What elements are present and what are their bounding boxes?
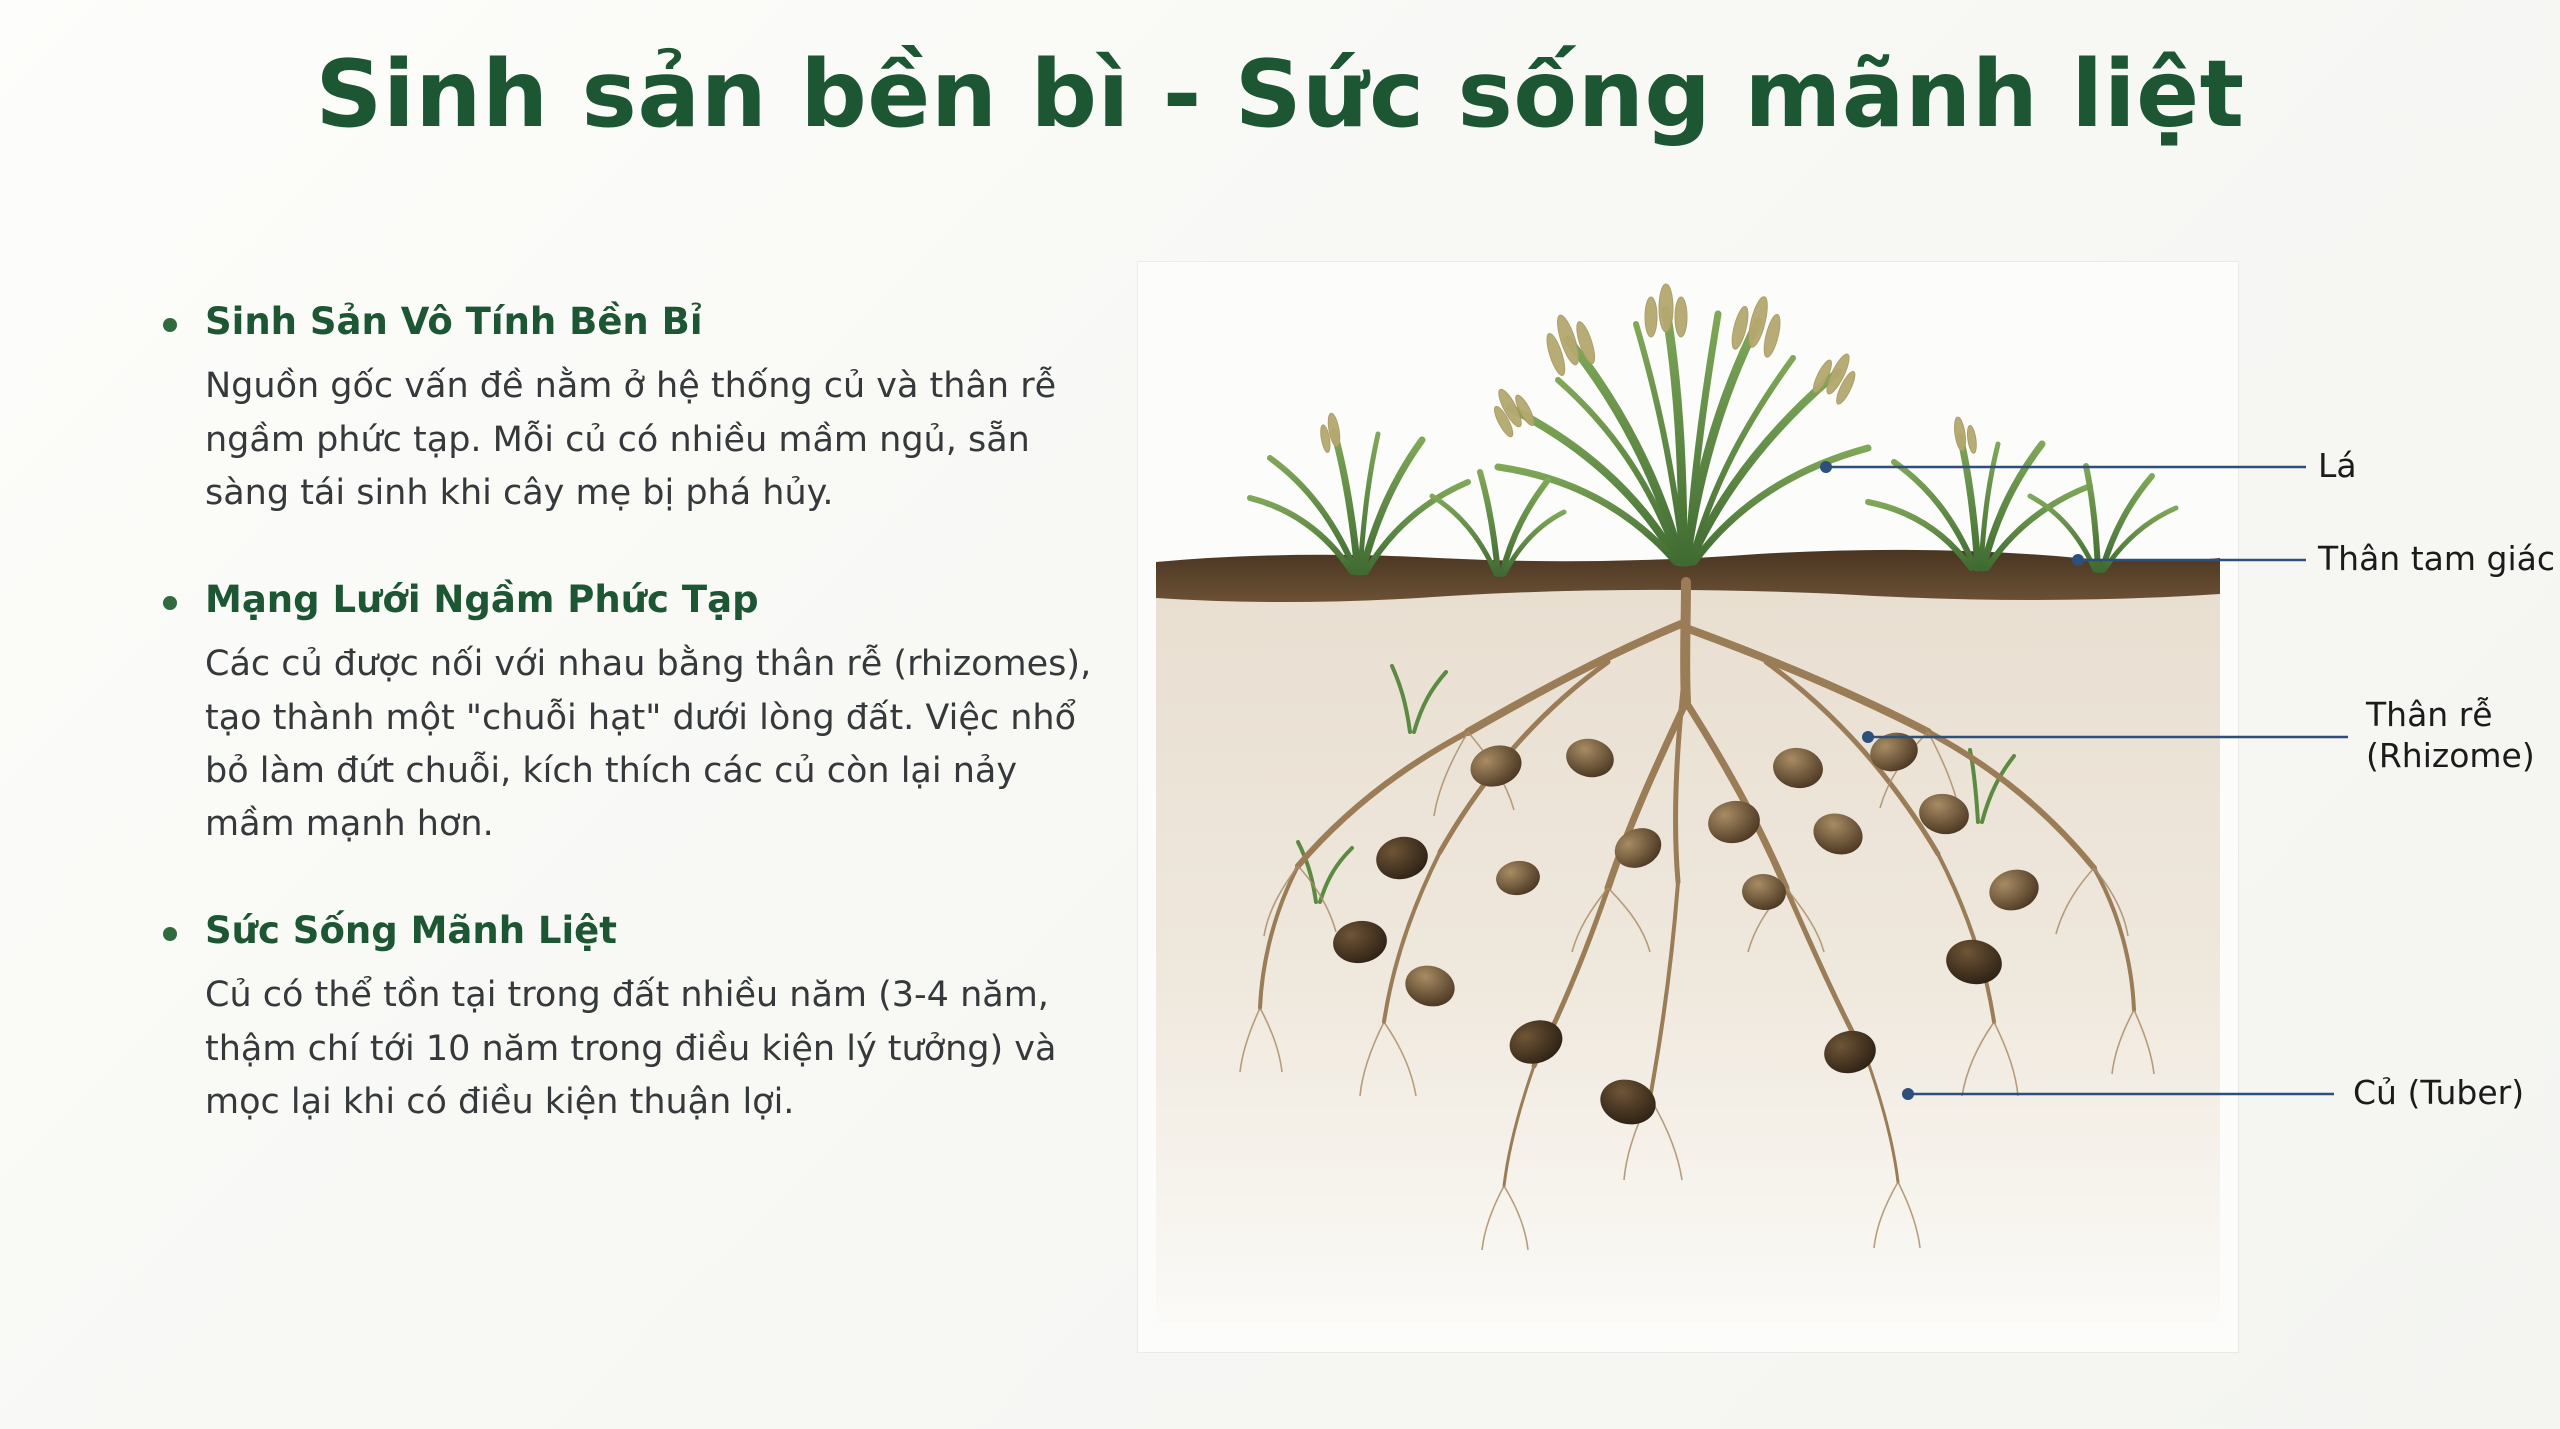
callout-label-than-re: Thân rễ (Rhizome)	[2366, 694, 2535, 777]
bullet-dot-icon	[163, 596, 177, 610]
page-title: Sinh sản bền bì - Sức sống mãnh liệt	[0, 40, 2560, 148]
bullet-heading: Sức Sống Mãnh Liệt	[205, 909, 1100, 953]
list-item: Mạng Lưới Ngầm Phức Tạp Các củ được nối …	[150, 578, 1100, 851]
slide-root: Sinh sản bền bì - Sức sống mãnh liệt Sin…	[0, 0, 2560, 1429]
bullet-dot-icon	[163, 318, 177, 332]
plant-diagram-svg	[1138, 262, 2238, 1352]
bullet-body: Củ có thể tồn tại trong đất nhiều năm (3…	[205, 969, 1100, 1129]
list-item: Sinh Sản Vô Tính Bền Bỉ Nguồn gốc vấn đề…	[150, 300, 1100, 520]
bullet-list: Sinh Sản Vô Tính Bền Bỉ Nguồn gốc vấn đề…	[150, 300, 1100, 1187]
bullet-dot-icon	[163, 927, 177, 941]
bullet-body: Nguồn gốc vấn đề nằm ở hệ thống củ và th…	[205, 360, 1100, 520]
botanical-illustration-nutsedge	[1138, 262, 2238, 1352]
bullet-heading: Mạng Lưới Ngầm Phức Tạp	[205, 578, 1100, 622]
callout-label-la: Lá	[2318, 445, 2357, 486]
callout-label-than-tam-giac: Thân tam giác	[2318, 538, 2555, 579]
callout-label-cu-tuber: Củ (Tuber)	[2353, 1072, 2524, 1113]
list-item: Sức Sống Mãnh Liệt Củ có thể tồn tại tro…	[150, 909, 1100, 1129]
bullet-body: Các củ được nối với nhau bằng thân rễ (r…	[205, 638, 1100, 851]
bullet-heading: Sinh Sản Vô Tính Bền Bỉ	[205, 300, 1100, 344]
